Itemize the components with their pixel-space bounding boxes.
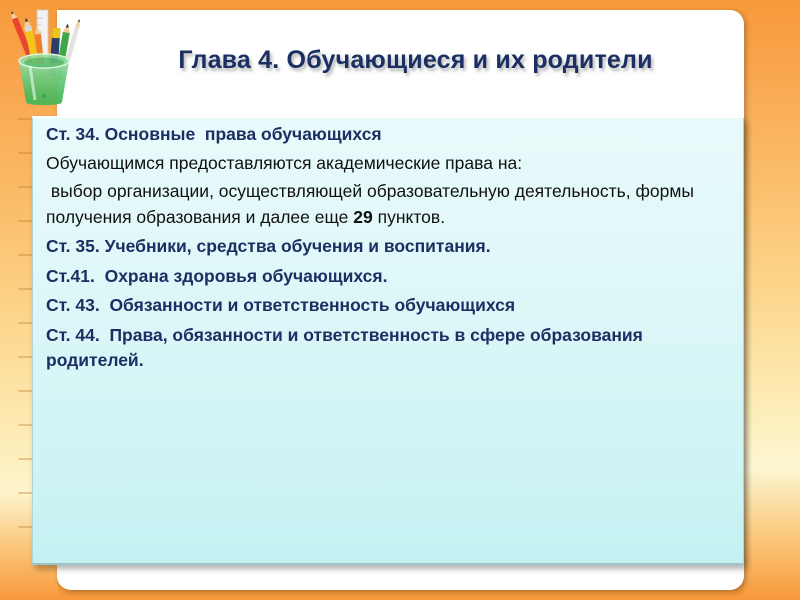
text-line-2: Обучающимся предоставляются академически… (46, 151, 729, 177)
text-line-7: Ст. 44. Права, обязанности и ответственн… (46, 323, 729, 374)
text-line-3-bold-number: 29 (353, 207, 372, 227)
content-text-block: Ст. 34. Основные права обучающихся Обуча… (46, 122, 729, 374)
right-gradient-strip (744, 0, 800, 600)
pencil-cup-icon (6, 4, 82, 106)
page-title: Глава 4. Обучающиеся и их родители (148, 46, 652, 75)
slide-canvas: Глава 4. Обучающиеся и их родители (0, 0, 800, 600)
text-line-3: выбор организации, осуществляющей образо… (46, 179, 729, 230)
text-line-6: Ст. 43. Обязанности и ответственность об… (46, 293, 729, 319)
text-line-4: Ст. 35. Учебники, средства обучения и во… (46, 234, 729, 260)
text-line-1: Ст. 34. Основные права обучающихся (46, 122, 729, 148)
text-line-5: Ст.41. Охрана здоровья обучающихся. (46, 264, 729, 290)
text-line-3-part-b: пунктов. (373, 207, 445, 227)
content-panel: Ст. 34. Основные права обучающихся Обуча… (32, 117, 744, 565)
slide-title-area: Глава 4. Обучающиеся и их родители (57, 10, 744, 110)
